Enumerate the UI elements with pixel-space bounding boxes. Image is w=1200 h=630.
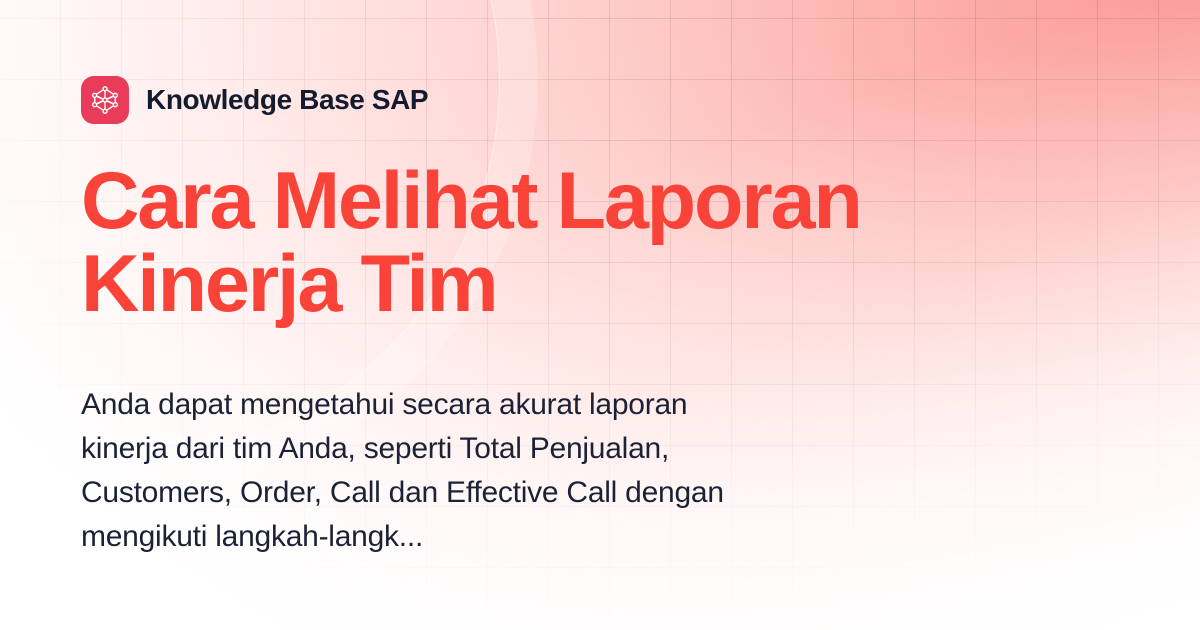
page-title-line-1: Cara Melihat Laporan: [81, 160, 1001, 243]
card-content: Knowledge Base SAP Cara Melihat Laporan …: [81, 0, 1081, 630]
page-title: Cara Melihat Laporan Kinerja Tim: [81, 160, 1001, 327]
page-summary-line-1: Anda dapat mengetahui secara akurat lapo…: [81, 383, 871, 427]
brand-lockup: Knowledge Base SAP: [81, 76, 428, 124]
page-summary-line-2: kinerja dari tim Anda, seperti Total Pen…: [81, 427, 871, 471]
page-title-line-2: Kinerja Tim: [81, 243, 1001, 326]
brand-name: Knowledge Base SAP: [146, 84, 428, 116]
page-summary: Anda dapat mengetahui secara akurat lapo…: [81, 383, 871, 559]
brand-logo-badge: [81, 76, 129, 124]
page-summary-line-4: mengikuti langkah-langk...: [81, 515, 871, 559]
network-cube-icon: [90, 85, 120, 115]
share-card: Knowledge Base SAP Cara Melihat Laporan …: [0, 0, 1200, 630]
page-summary-line-3: Customers, Order, Call dan Effective Cal…: [81, 471, 871, 515]
